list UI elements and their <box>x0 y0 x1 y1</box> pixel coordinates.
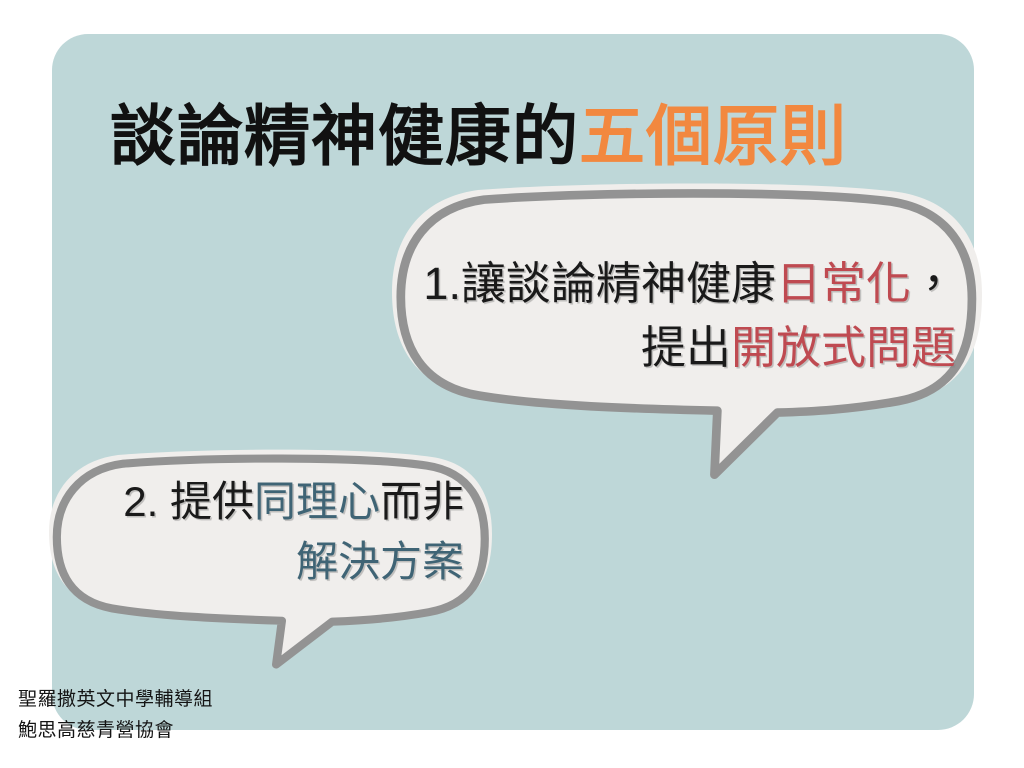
bubble-1-line-1-punct: ， <box>911 258 956 309</box>
speech-bubble-principle-1[interactable]: 1.讓談論精神健康日常化， 提出開放式問題 <box>386 182 986 482</box>
slide-canvas: 談論精神健康的五個原則 1.讓談論精神健康日常化， 提出開放式問題 2. 提供同… <box>0 0 1024 768</box>
footer-credits: 聖羅撒英文中學輔導組 鮑思高慈青營協會 <box>18 684 213 746</box>
speech-bubble-text-2: 2. 提供同理心而非 解決方案 <box>74 472 464 592</box>
bubble-2-line-1: 2. 提供同理心而非 <box>74 472 464 532</box>
bubble-1-line-2-plain: 提出 <box>641 322 731 373</box>
bubble-1-line-1-plain: 讓談論精神健康 <box>461 258 776 309</box>
speech-bubble-principle-2[interactable]: 2. 提供同理心而非 解決方案 <box>44 448 496 670</box>
page-title-plain: 談論精神健康的 <box>110 99 579 173</box>
bubble-2-line-1-plain: 提供 <box>158 478 254 525</box>
bubble-1-line-1: 1.讓談論精神健康日常化， <box>422 252 956 316</box>
bubble-2-number: 2. <box>123 478 158 525</box>
footer-credit-line-1: 聖羅撒英文中學輔導組 <box>18 684 213 715</box>
speech-bubble-text-1: 1.讓談論精神健康日常化， 提出開放式問題 <box>422 252 956 380</box>
bubble-1-line-2: 提出開放式問題 <box>422 316 956 380</box>
footer-credit-line-2: 鮑思高慈青營協會 <box>18 715 213 746</box>
bubble-2-line-2: 解決方案 <box>74 532 464 592</box>
page-title-accent: 五個原則 <box>579 99 847 173</box>
bubble-2-line-1-plain-tail: 而非 <box>380 478 464 525</box>
bubble-1-line-2-accent: 開放式問題 <box>731 322 956 373</box>
bubble-1-number: 1. <box>423 258 461 309</box>
bubble-2-line-1-accent: 同理心 <box>254 478 380 525</box>
bubble-1-line-1-accent: 日常化 <box>776 258 911 309</box>
page-title: 談論精神健康的五個原則 <box>110 96 930 176</box>
